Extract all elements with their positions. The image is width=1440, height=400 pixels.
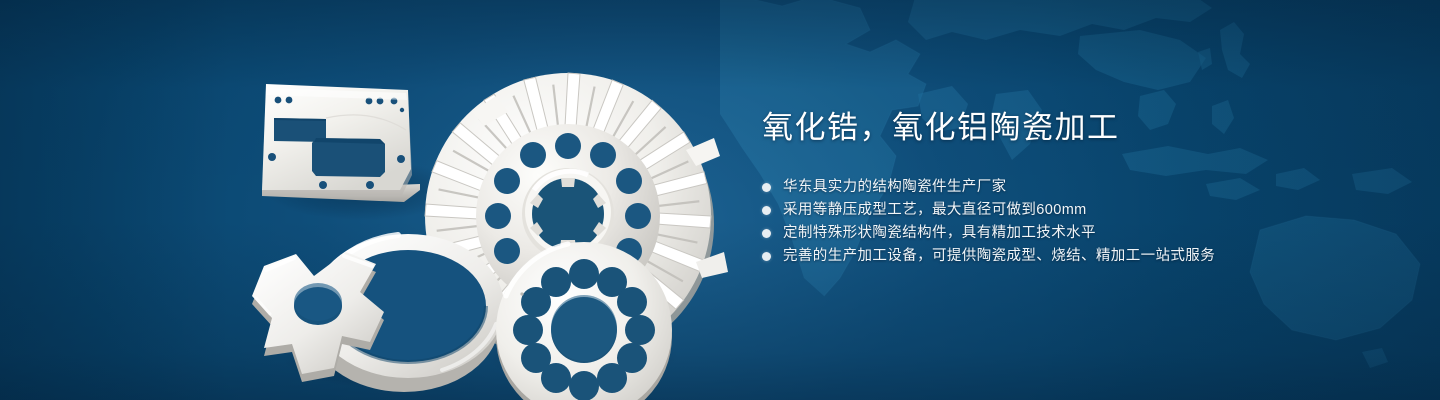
- bullet-dot-icon: [762, 252, 771, 261]
- page-title: 氧化锆，氧化铝陶瓷加工: [762, 108, 1362, 148]
- list-item-label: 采用等静压成型工艺，最大直径可做到600mm: [783, 199, 1087, 222]
- ceramic-plate-part: [262, 84, 420, 202]
- list-item-label: 定制特殊形状陶瓷结构件，具有精加工技术水平: [783, 222, 1096, 245]
- list-item-label: 完善的生产加工设备，可提供陶瓷成型、烧结、精加工一站式服务: [783, 245, 1215, 268]
- list-item-label: 华东具实力的结构陶瓷件生产厂家: [783, 176, 1007, 199]
- banner-copy: 氧化锆，氧化铝陶瓷加工 华东具实力的结构陶瓷件生产厂家 采用等静压成型工艺，最大…: [762, 108, 1362, 268]
- bullet-dot-icon: [762, 206, 771, 215]
- ceramic-products-image: [230, 38, 700, 383]
- hero-banner: 氧化锆，氧化铝陶瓷加工 华东具实力的结构陶瓷件生产厂家 采用等静压成型工艺，最大…: [0, 0, 1440, 400]
- bullet-dot-icon: [762, 229, 771, 238]
- list-item: 华东具实力的结构陶瓷件生产厂家: [762, 176, 1362, 199]
- bullet-dot-icon: [762, 183, 771, 192]
- feature-list: 华东具实力的结构陶瓷件生产厂家 采用等静压成型工艺，最大直径可做到600mm 定…: [762, 176, 1362, 268]
- list-item: 采用等静压成型工艺，最大直径可做到600mm: [762, 199, 1362, 222]
- list-item: 定制特殊形状陶瓷结构件，具有精加工技术水平: [762, 222, 1362, 245]
- list-item: 完善的生产加工设备，可提供陶瓷成型、烧结、精加工一站式服务: [762, 245, 1362, 268]
